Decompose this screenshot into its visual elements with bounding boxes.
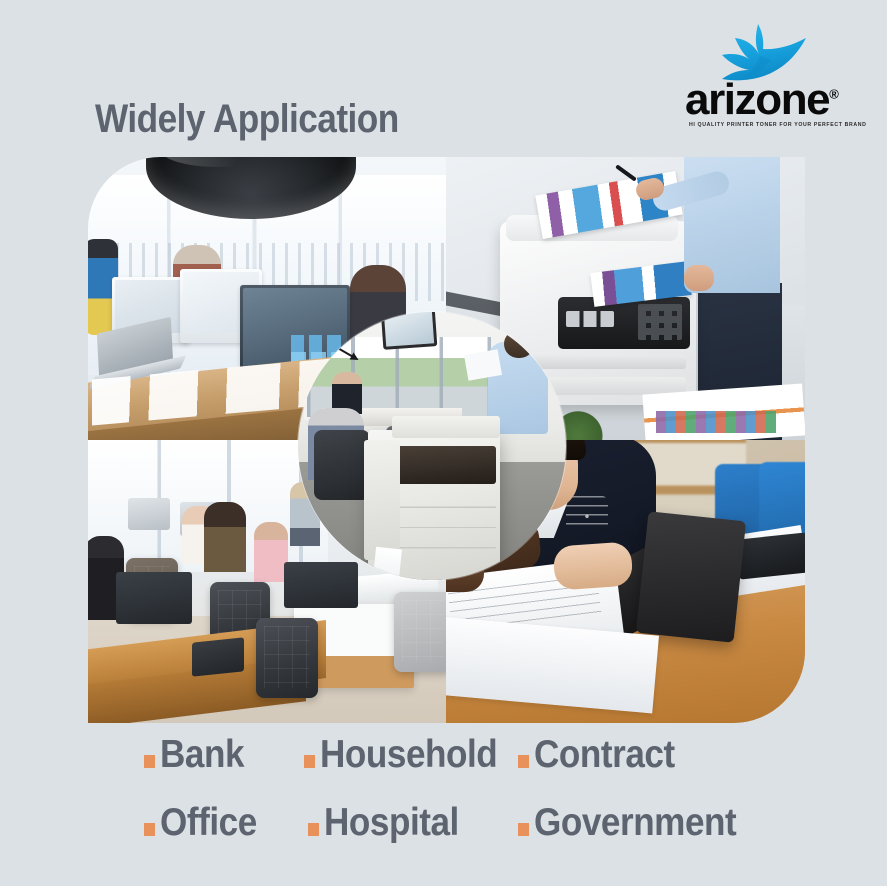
copier-output-bin [392, 446, 496, 484]
person-seated-2 [204, 502, 246, 572]
bullet-square-icon [304, 755, 315, 768]
bullet-square-icon [518, 823, 529, 836]
list-item-label: Hospital [324, 803, 459, 842]
desk-phone [192, 637, 244, 676]
brand-name: arizone [685, 75, 829, 124]
printer-keypad [638, 304, 682, 340]
bullet-square-icon [518, 755, 529, 768]
school-crest [566, 496, 608, 530]
list-item-hospital[interactable]: Hospital [308, 803, 474, 842]
bullet-square-icon [144, 755, 155, 768]
list-item-government[interactable]: Government [518, 803, 759, 842]
printed-slip [372, 547, 402, 580]
list-item-label: Household [320, 735, 497, 774]
application-list: Bank Household Contract Office Hospital … [0, 725, 887, 886]
list-item-household[interactable]: Household [304, 735, 517, 774]
application-photo-collage [88, 157, 805, 723]
monitor-foreground [116, 572, 192, 624]
header: Widely Application arizone® HI QUALITY P… [0, 0, 887, 155]
bullet-square-icon [144, 823, 155, 836]
chair-foreground [256, 618, 318, 698]
list-item-office[interactable]: Office [144, 803, 268, 842]
office-chair [314, 430, 370, 500]
photo-copier-circle-overlay [298, 312, 566, 580]
list-item-label: Bank [160, 735, 244, 774]
brand-logo: arizone® HI QUALITY PRINTER TONER FOR YO… [685, 22, 835, 134]
printer-buttons [566, 311, 614, 327]
page-title: Widely Application [95, 97, 399, 142]
bullet-square-icon [308, 823, 319, 836]
copier-finisher-unit [364, 440, 400, 560]
copier-touchscreen [381, 312, 438, 350]
registered-mark-icon: ® [829, 86, 839, 101]
copier-top-cover [392, 416, 500, 438]
list-item-label: Government [534, 803, 736, 842]
list-item-label: Contract [534, 735, 675, 774]
printed-color-images [656, 411, 776, 433]
list-item-bank[interactable]: Bank [144, 735, 253, 774]
person-seated-3 [254, 522, 288, 582]
man-head [504, 330, 534, 358]
printer-control-panel [558, 297, 690, 349]
copier-paper-drawers [390, 498, 496, 570]
list-item-label: Office [160, 803, 257, 842]
brand-wordmark: arizone® [685, 78, 839, 122]
tablet-device [636, 511, 746, 643]
list-item-contract[interactable]: Contract [518, 735, 690, 774]
monitor-far-1 [128, 498, 170, 530]
person-hand-lower [684, 265, 714, 291]
chair-right [394, 592, 446, 672]
keyboard [735, 532, 805, 579]
photo-background [298, 312, 566, 580]
brand-tagline: HI QUALITY PRINTER TONER FOR YOUR PERFEC… [689, 122, 867, 128]
